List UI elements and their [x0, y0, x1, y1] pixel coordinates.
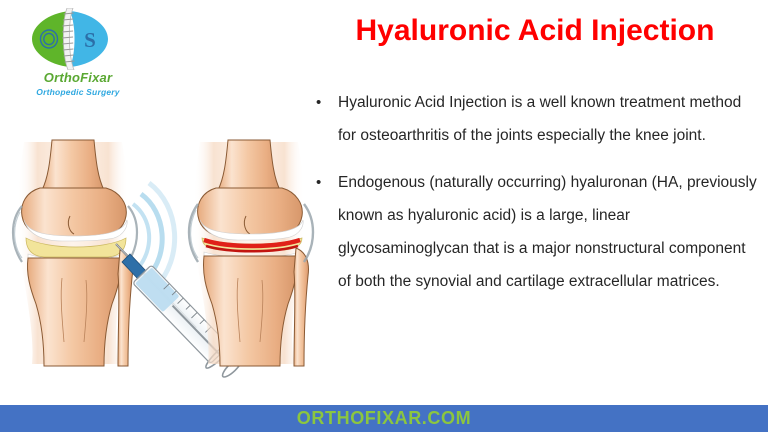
list-item-text: Endogenous (naturally occurring) hyaluro… [338, 166, 760, 298]
logo-subtitle: Orthopedic Surgery [8, 87, 148, 97]
svg-text:S: S [84, 28, 96, 52]
slide-canvas: S OrthoFixar Orthopedic Surgery Hyaluron… [0, 0, 768, 432]
orthofixar-logo-icon: S [24, 8, 116, 70]
bullet-point-icon: • [312, 86, 338, 119]
list-item-text: Hyaluronic Acid Injection is a well know… [338, 86, 760, 152]
osteoarthritic-knee-panel [189, 140, 313, 366]
brand-logo[interactable]: S OrthoFixar Orthopedic Surgery [8, 4, 148, 108]
logo-wordmark: OrthoFixar [8, 70, 148, 85]
knee-injection-illustration [0, 128, 330, 378]
list-item: • Hyaluronic Acid Injection is a well kn… [312, 86, 760, 152]
footer-website-label: ORTHOFIXAR.COM [0, 405, 768, 432]
bullet-list: • Hyaluronic Acid Injection is a well kn… [312, 86, 760, 312]
footer-bar: ORTHOFIXAR.COM [0, 405, 768, 432]
page-title: Hyaluronic Acid Injection [310, 12, 760, 50]
list-item: • Endogenous (naturally occurring) hyalu… [312, 166, 760, 298]
